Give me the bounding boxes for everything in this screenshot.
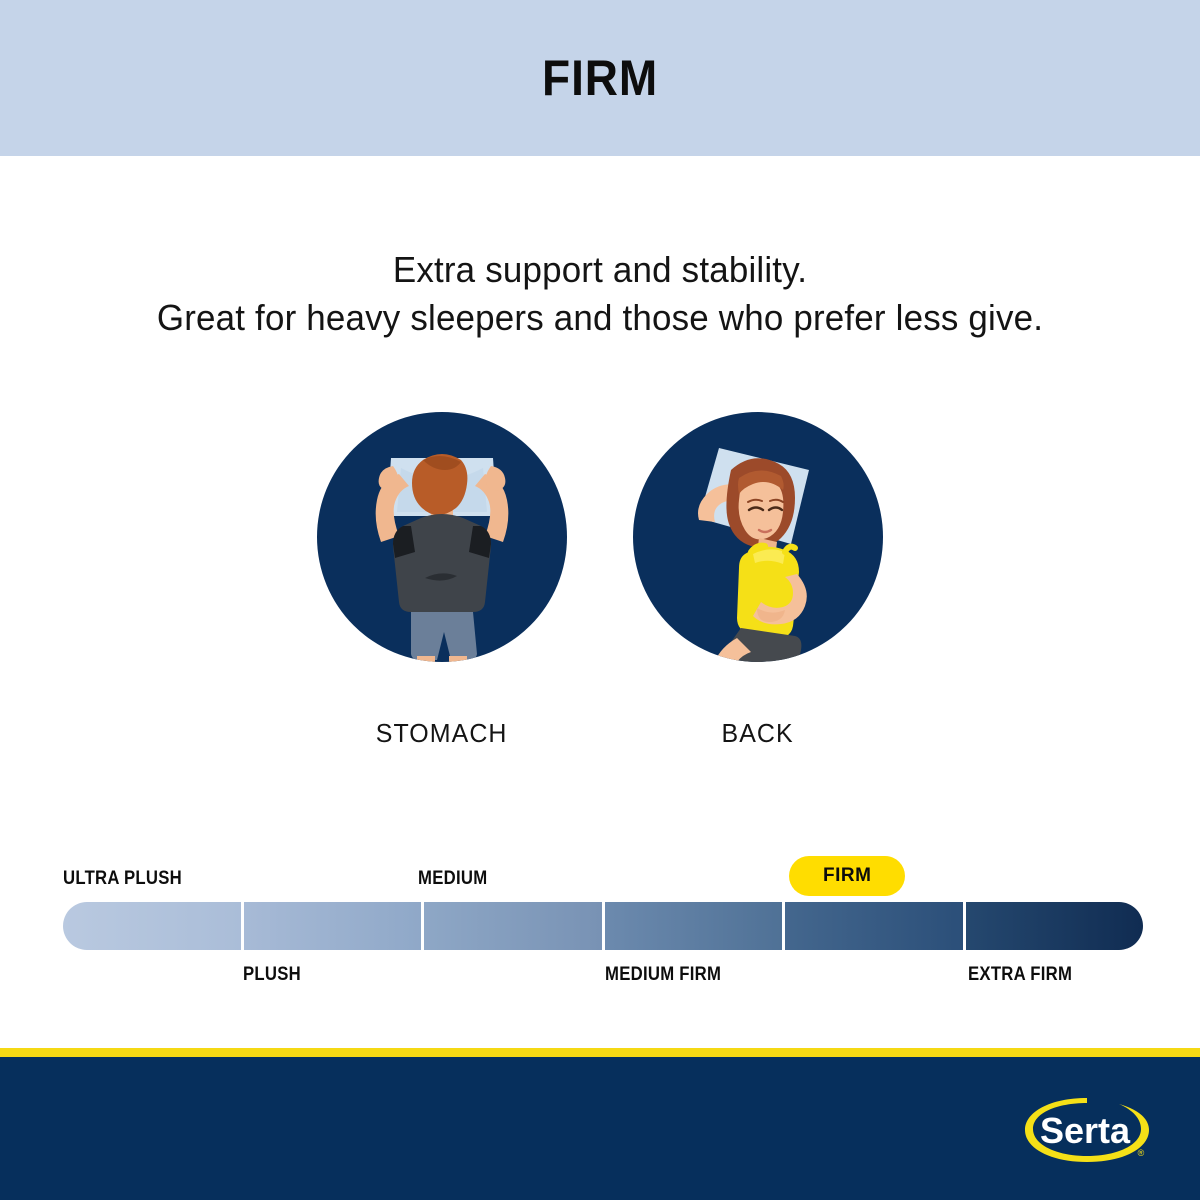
page-root: FIRM Extra support and stability. Great …	[0, 0, 1200, 1200]
scale-label-extra-firm[interactable]: EXTRA FIRM	[968, 964, 1072, 986]
subtitle-line-2: Great for heavy sleepers and those who p…	[18, 294, 1182, 342]
scale-segment-medium-firm[interactable]	[605, 902, 783, 950]
serta-logo: Serta ®	[1015, 1090, 1160, 1170]
pose-stomach: STOMACH	[317, 412, 567, 749]
scale-labels-top: ULTRA PLUSH MEDIUM FIRM	[63, 862, 1143, 902]
sleep-positions: STOMACH	[0, 412, 1200, 749]
pose-label-stomach: STOMACH	[376, 718, 508, 749]
scale-labels-bottom: PLUSH MEDIUM FIRM EXTRA FIRM	[63, 962, 1143, 1002]
pose-back: BACK	[633, 412, 883, 749]
page-title: FIRM	[542, 53, 658, 103]
scale-label-medium[interactable]: MEDIUM	[418, 868, 487, 890]
scale-label-plush[interactable]: PLUSH	[243, 964, 301, 986]
scale-label-ultra-plush[interactable]: ULTRA PLUSH	[63, 868, 182, 890]
serta-logo-text: Serta	[1040, 1110, 1131, 1151]
scale-segment-ultra-plush[interactable]	[63, 902, 241, 950]
scale-segment-medium[interactable]	[424, 902, 602, 950]
scale-label-firm-selected[interactable]: FIRM	[789, 856, 905, 896]
scale-bar[interactable]	[63, 902, 1143, 950]
pose-label-back: BACK	[722, 718, 794, 749]
registered-trademark-icon: ®	[1138, 1148, 1145, 1158]
stomach-sleeper-icon	[317, 412, 567, 662]
firmness-scale: ULTRA PLUSH MEDIUM FIRM PLUSH MEDIUM FIR…	[63, 862, 1143, 1012]
scale-segment-extra-firm[interactable]	[966, 902, 1144, 950]
subtitle-block: Extra support and stability. Great for h…	[18, 246, 1182, 341]
subtitle-line-1: Extra support and stability.	[18, 246, 1182, 294]
scale-segment-firm[interactable]	[785, 902, 963, 950]
back-sleeper-icon	[633, 412, 883, 662]
header-band: FIRM	[0, 0, 1200, 156]
footer-accent-stripe	[0, 1048, 1200, 1057]
scale-label-medium-firm[interactable]: MEDIUM FIRM	[605, 964, 721, 986]
scale-segment-plush[interactable]	[244, 902, 422, 950]
